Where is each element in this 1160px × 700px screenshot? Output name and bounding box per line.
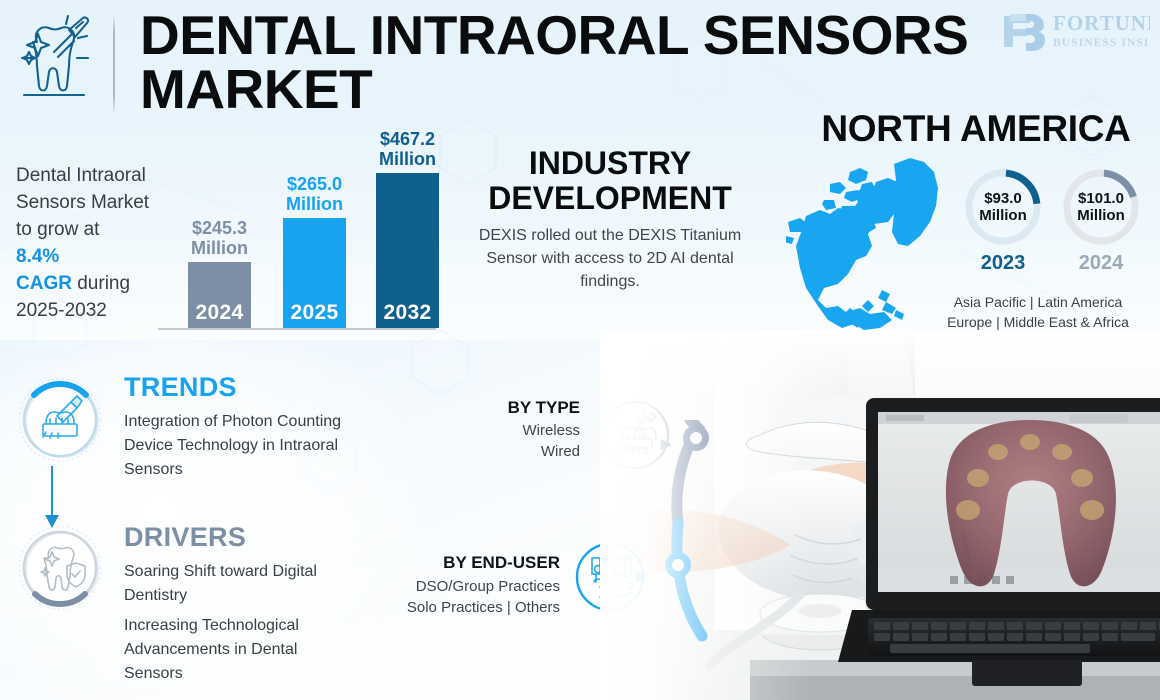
- other-regions-list: Asia Pacific | Latin America Europe | Mi…: [918, 292, 1158, 332]
- by-type-item-1: Wired: [541, 443, 580, 460]
- bar-2025-label: $265.0Million: [274, 174, 355, 214]
- cagr-value: 8.4%: [16, 246, 59, 267]
- market-summary-text: Dental Intraoral Sensors Market to grow …: [16, 162, 166, 324]
- by-end-user-line2: Solo Practices | Others: [407, 599, 560, 616]
- by-type-icon-circle: [599, 399, 671, 471]
- donut-2024: $101.0Million: [1060, 166, 1142, 248]
- during-word: during: [72, 273, 130, 294]
- by-end-user-line1: DSO/Group Practices: [416, 578, 560, 595]
- summary-line-2: Sensors Market: [16, 192, 149, 213]
- bar-2024-year: 2024: [188, 301, 251, 325]
- chart-baseline: [158, 328, 436, 330]
- cagr-label: CAGR: [16, 273, 72, 294]
- other-regions-line1: Asia Pacific | Latin America: [954, 294, 1123, 310]
- fortune-business-insights-logo: FORTUNE BUSINESS INSIGHTS: [1000, 8, 1150, 54]
- bar-2025-year: 2025: [283, 301, 346, 325]
- drivers-body-1: Soaring Shift toward Digital Dentistry: [124, 560, 354, 608]
- by-end-user-title: BY END-USER: [330, 553, 560, 573]
- donut-2023-value: $93.0Million: [962, 166, 1044, 248]
- summary-line-3: to grow at: [16, 219, 99, 240]
- summary-line-1: Dental Intraoral: [16, 165, 146, 186]
- by-type-title: BY TYPE: [380, 398, 580, 418]
- drivers-body-2: Increasing Technological Advancements in…: [124, 614, 354, 686]
- by-type-items: Wireless Wired: [380, 420, 580, 462]
- trends-body: Integration of Photon Counting Device Te…: [124, 410, 386, 482]
- fb-monogram-icon: [1004, 14, 1045, 51]
- donut-2024-year: 2024: [1060, 252, 1142, 275]
- industry-development-block: INDUSTRY DEVELOPMENT DEXIS rolled out th…: [455, 146, 765, 293]
- donut-2023: $93.0Million: [962, 166, 1044, 248]
- by-type-item-0: Wireless: [522, 422, 580, 439]
- logo-line2: BUSINESS INSIGHTS: [1053, 37, 1150, 49]
- other-regions-line2: Europe | Middle East & Africa: [947, 314, 1129, 330]
- drivers-title: DRIVERS: [124, 522, 246, 553]
- market-bar-chart: $245.3Million 2024 $265.0Million 2025 $4…: [158, 140, 443, 330]
- page-title: DENTAL INTRAORAL SENSORS MARKET: [140, 8, 970, 116]
- infographic-root: DENTAL INTRAORAL SENSORS MARKET FORTUNE …: [0, 0, 1160, 700]
- donut-2024-value: $101.0Million: [1060, 166, 1142, 248]
- by-end-user-items: DSO/Group Practices Solo Practices | Oth…: [330, 576, 560, 618]
- trends-icon-badge: [16, 376, 104, 464]
- trends-title: TRENDS: [124, 372, 237, 403]
- industry-development-body: DEXIS rolled out the DEXIS Titanium Sens…: [455, 224, 765, 293]
- trends-to-drivers-arrow: [40, 466, 80, 532]
- donut-2023-year: 2023: [962, 252, 1044, 275]
- forecast-period: 2025-2032: [16, 300, 107, 321]
- industry-development-title: INDUSTRY DEVELOPMENT: [455, 146, 765, 216]
- header-divider: [113, 14, 115, 114]
- region-title: NORTH AMERICA: [800, 108, 1152, 150]
- bar-2032-year: 2032: [376, 301, 439, 325]
- bar-2032-label: $467.2Million: [367, 129, 448, 169]
- bar-2024-label: $245.3Million: [179, 218, 260, 258]
- by-end-user-icon-circle: [574, 541, 646, 613]
- logo-line1: FORTUNE: [1053, 11, 1150, 35]
- drivers-icon-badge: [16, 524, 104, 612]
- tooth-sparkle-brush-icon: [14, 12, 96, 104]
